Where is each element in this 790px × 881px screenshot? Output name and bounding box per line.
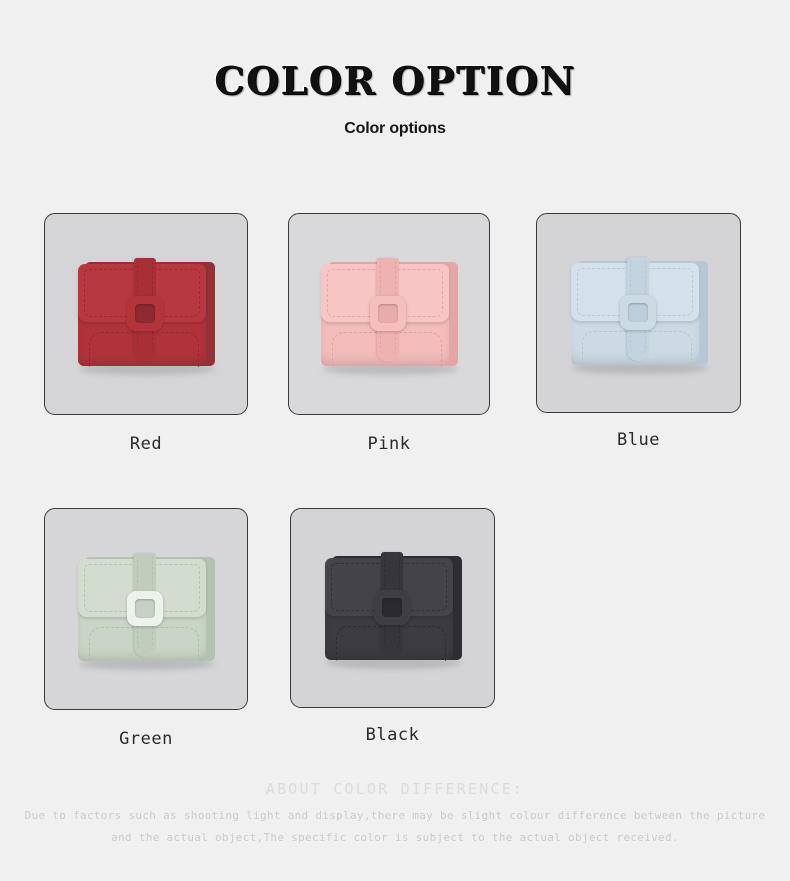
swatch-label-pink: Pink bbox=[368, 415, 411, 453]
disclaimer-line-2: and the actual object,The specific color… bbox=[0, 821, 790, 843]
wallet-buckle bbox=[127, 296, 163, 331]
swatch-card-green[interactable] bbox=[44, 508, 248, 710]
swatch-label-red: Red bbox=[130, 415, 162, 453]
color-option-green[interactable]: Green bbox=[44, 508, 248, 748]
wallet-buckle-hole bbox=[135, 304, 155, 323]
color-swatch-grid: Red bbox=[44, 213, 744, 748]
swatch-card-pink[interactable] bbox=[288, 213, 490, 415]
page-subtitle: Color options bbox=[0, 100, 790, 138]
wallet-buckle-hole bbox=[628, 303, 648, 322]
swatch-label-black: Black bbox=[366, 708, 420, 744]
swatch-label-green: Green bbox=[119, 710, 173, 748]
color-option-red[interactable]: Red bbox=[44, 213, 248, 453]
page-title: COLOR OPTION bbox=[0, 0, 790, 100]
wallet-image-green bbox=[75, 551, 217, 667]
wallet-image-pink bbox=[318, 256, 460, 372]
wallet-buckle-hole bbox=[378, 304, 398, 323]
swatch-row-1: Red bbox=[44, 213, 744, 453]
color-option-black[interactable]: Black bbox=[290, 508, 495, 744]
wallet-image-blue bbox=[568, 255, 710, 371]
page-header: COLOR OPTION Color options bbox=[0, 0, 790, 138]
swatch-label-blue: Blue bbox=[617, 413, 660, 449]
wallet-buckle bbox=[620, 295, 656, 330]
wallet-buckle bbox=[127, 591, 163, 626]
disclaimer-heading: ABOUT COLOR DIFFERENCE: bbox=[0, 782, 790, 797]
color-option-blue[interactable]: Blue bbox=[536, 213, 741, 449]
wallet-image-black bbox=[322, 550, 464, 666]
wallet-buckle-hole bbox=[135, 599, 155, 618]
color-difference-disclaimer: ABOUT COLOR DIFFERENCE: Due to factors s… bbox=[0, 782, 790, 843]
wallet-image-red bbox=[75, 256, 217, 372]
swatch-row-2: Green bbox=[44, 508, 744, 748]
wallet-buckle bbox=[370, 296, 406, 331]
swatch-card-black[interactable] bbox=[290, 508, 495, 708]
color-option-pink[interactable]: Pink bbox=[288, 213, 490, 453]
swatch-card-red[interactable] bbox=[44, 213, 248, 415]
wallet-buckle bbox=[374, 590, 410, 625]
wallet-buckle-hole bbox=[382, 598, 402, 617]
disclaimer-line-1: Due to factors such as shooting light an… bbox=[0, 797, 790, 821]
swatch-card-blue[interactable] bbox=[536, 213, 741, 413]
